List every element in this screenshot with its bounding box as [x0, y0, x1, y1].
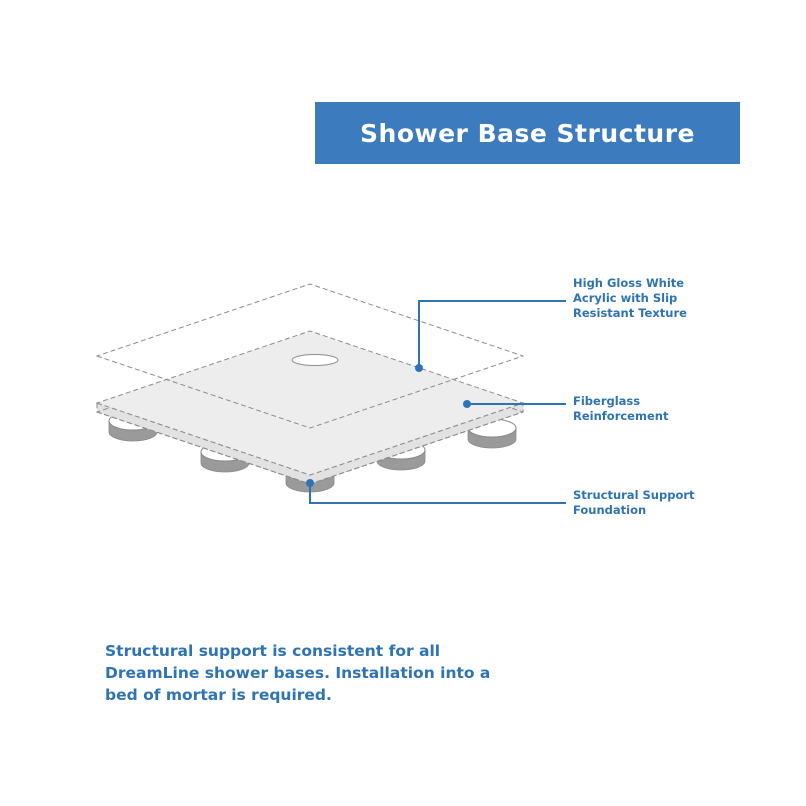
slab-top-face — [97, 331, 523, 475]
diagram-page: Shower Base Structure — [0, 0, 806, 806]
leader-dot-acrylic — [415, 364, 423, 372]
drain-ellipse — [292, 355, 338, 366]
leader-line-support — [310, 483, 566, 503]
leader-dot-fiberglass — [463, 400, 471, 408]
leader-line-acrylic — [419, 301, 566, 368]
fiberglass-slab-layer — [97, 331, 523, 484]
leader-dot-support — [306, 479, 314, 487]
callout-label-acrylic: High Gloss White Acrylic with Slip Resis… — [573, 276, 687, 321]
callout-label-support: Structural Support Foundation — [573, 488, 695, 518]
footer-caption: Structural support is consistent for all… — [105, 640, 525, 706]
callout-label-fiberglass: Fiberglass Reinforcement — [573, 394, 668, 424]
